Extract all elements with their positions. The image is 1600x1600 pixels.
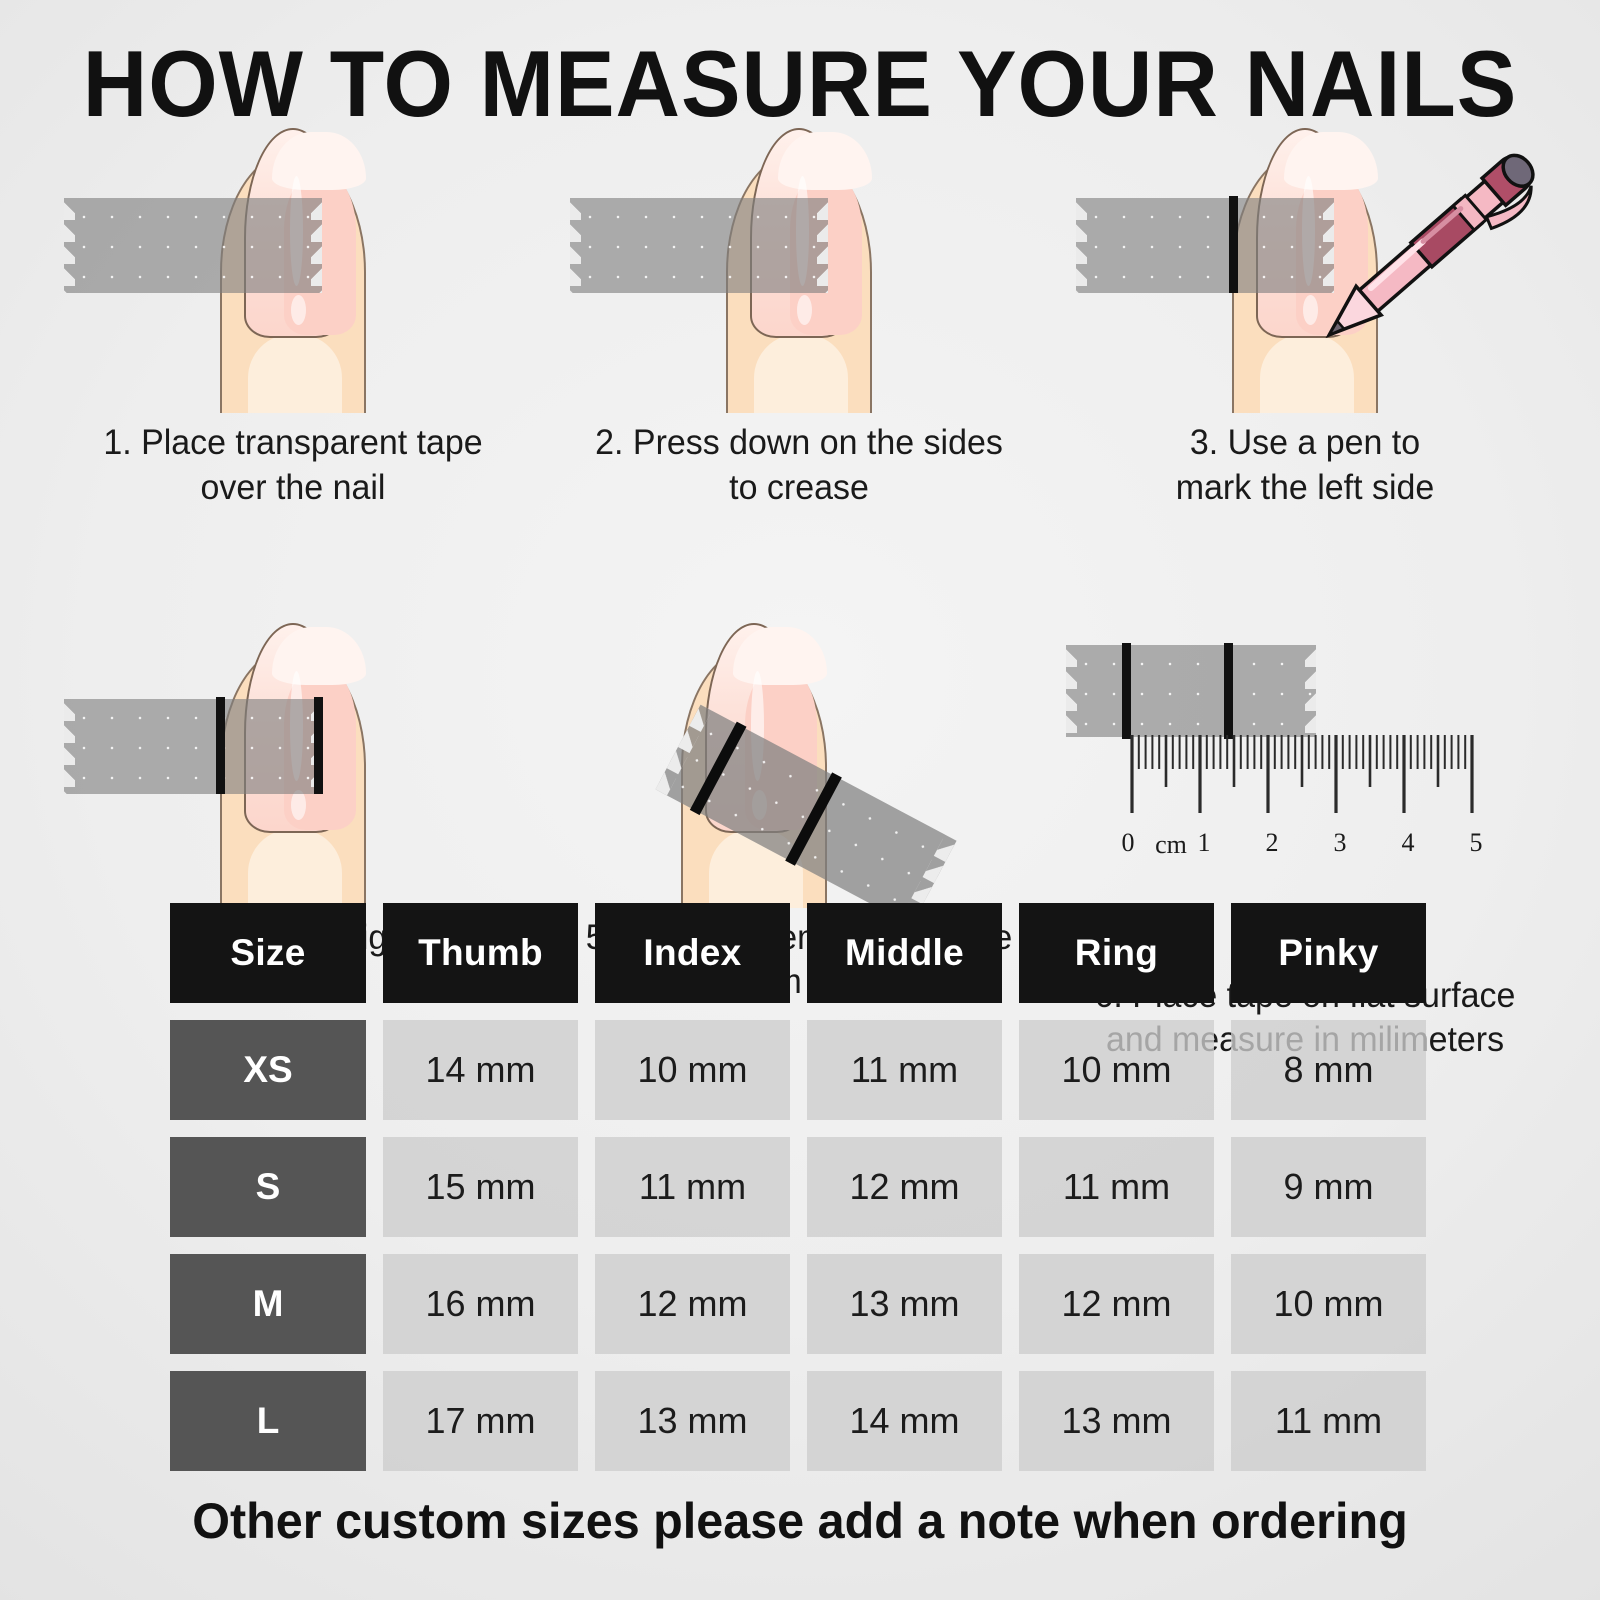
- table-cell: 17 mm: [383, 1371, 578, 1471]
- step-1-illustration: [40, 128, 546, 413]
- table-cell: 11 mm: [1019, 1137, 1214, 1237]
- left-edge-mark: [216, 697, 225, 794]
- table-cell: 8 mm: [1231, 1020, 1426, 1120]
- table-cell: 13 mm: [1019, 1371, 1214, 1471]
- table-header-ring: Ring: [1019, 903, 1214, 1003]
- tape-strip: [64, 699, 322, 794]
- ruler-label-1: 1: [1198, 828, 1211, 858]
- tape-texture: [570, 198, 828, 293]
- ruler-label-4: 4: [1402, 828, 1415, 858]
- tape-strip-flat: [1066, 645, 1316, 737]
- ruler-label-0: 0: [1122, 828, 1135, 858]
- table-cell: 9 mm: [1231, 1137, 1426, 1237]
- step-2-caption: 2. Press down on the sides to crease: [554, 413, 1045, 511]
- table-header-row: Size Thumb Index Middle Ring Pinky: [170, 903, 1438, 1003]
- size-chart-table: Size Thumb Index Middle Ring Pinky XS 14…: [170, 903, 1438, 1488]
- table-cell: 11 mm: [1231, 1371, 1426, 1471]
- table-cell: 10 mm: [595, 1020, 790, 1120]
- table-cell: 14 mm: [807, 1371, 1002, 1471]
- ruler-label-2: 2: [1266, 828, 1279, 858]
- step-2-illustration: [546, 128, 1052, 413]
- table-cell: 12 mm: [1019, 1254, 1214, 1354]
- size-label-s: S: [170, 1137, 366, 1237]
- step-1-caption: 1. Place transparent tape over the nail: [48, 413, 539, 511]
- table-header-middle: Middle: [807, 903, 1002, 1003]
- table-cell: 16 mm: [383, 1254, 578, 1354]
- table-cell: 12 mm: [807, 1137, 1002, 1237]
- right-edge-mark: [314, 697, 323, 794]
- table-cell: 11 mm: [807, 1020, 1002, 1120]
- finger-skin-highlight: [248, 829, 342, 908]
- step-6-illustration: 0 cm 1 2 3 4 5: [1052, 623, 1558, 908]
- step-2: 2. Press down on the sides to crease: [546, 128, 1052, 511]
- step-2-caption-line2: to crease: [563, 466, 1034, 511]
- finger-skin-highlight: [248, 334, 342, 413]
- tape-strip-creased: [570, 198, 828, 293]
- table-header-pinky: Pinky: [1231, 903, 1426, 1003]
- step-1-caption-line1: 1. Place transparent tape: [57, 421, 528, 466]
- ruler-label-5: 5: [1470, 828, 1483, 858]
- nail-shine-secondary: [291, 790, 306, 820]
- step-3-caption: 3. Use a pen to mark the left side: [1060, 413, 1551, 511]
- table-cell: 14 mm: [383, 1020, 578, 1120]
- table-row: L 17 mm 13 mm 14 mm 13 mm 11 mm: [170, 1371, 1438, 1471]
- table-row: XS 14 mm 10 mm 11 mm 10 mm 8 mm: [170, 1020, 1438, 1120]
- pen-icon: [1252, 128, 1552, 376]
- table-row: S 15 mm 11 mm 12 mm 11 mm 9 mm: [170, 1137, 1438, 1237]
- finger-skin-highlight: [754, 334, 848, 413]
- size-label-m: M: [170, 1254, 366, 1354]
- table-header-size: Size: [170, 903, 366, 1003]
- step-5-illustration: [546, 623, 1052, 908]
- step-3-caption-line2: mark the left side: [1069, 466, 1540, 511]
- left-edge-mark: [1229, 196, 1238, 293]
- size-label-l: L: [170, 1371, 366, 1471]
- steps-row-top: 1. Place transparent tape over the nail: [40, 128, 1560, 511]
- table-cell: 13 mm: [595, 1371, 790, 1471]
- nail-tip: [272, 132, 366, 190]
- nail-tip: [733, 627, 827, 685]
- tape-texture: [64, 198, 322, 293]
- table-cell: 10 mm: [1019, 1020, 1214, 1120]
- table-cell: 15 mm: [383, 1137, 578, 1237]
- right-edge-mark: [1224, 643, 1233, 739]
- tape-texture: [64, 699, 322, 794]
- tape-strip: [64, 198, 322, 293]
- page-title: HOW TO MEASURE YOUR NAILS: [40, 30, 1560, 138]
- step-2-caption-line1: 2. Press down on the sides: [563, 421, 1034, 466]
- step-3-illustration: [1052, 128, 1558, 413]
- step-1: 1. Place transparent tape over the nail: [40, 128, 546, 511]
- left-edge-mark: [1122, 643, 1131, 739]
- table-header-thumb: Thumb: [383, 903, 578, 1003]
- tape-texture: [1066, 645, 1316, 737]
- nail-tip: [272, 627, 366, 685]
- step-3: 3. Use a pen to mark the left side: [1052, 128, 1558, 511]
- ruler-unit-label: cm: [1155, 830, 1187, 860]
- table-header-index: Index: [595, 903, 790, 1003]
- table-cell: 11 mm: [595, 1137, 790, 1237]
- ruler-label-3: 3: [1334, 828, 1347, 858]
- step-4-illustration: [40, 623, 546, 908]
- footer-note: Other custom sizes please add a note whe…: [24, 1492, 1576, 1550]
- size-label-xs: XS: [170, 1020, 366, 1120]
- ruler-icon: [1112, 735, 1532, 895]
- step-3-caption-line1: 3. Use a pen to: [1069, 421, 1540, 466]
- nail-shine-secondary: [797, 295, 812, 325]
- step-1-caption-line2: over the nail: [57, 466, 528, 511]
- table-cell: 13 mm: [807, 1254, 1002, 1354]
- table-row: M 16 mm 12 mm 13 mm 12 mm 10 mm: [170, 1254, 1438, 1354]
- nail-tip: [778, 132, 872, 190]
- nail-shine-secondary: [291, 295, 306, 325]
- table-cell: 12 mm: [595, 1254, 790, 1354]
- table-cell: 10 mm: [1231, 1254, 1426, 1354]
